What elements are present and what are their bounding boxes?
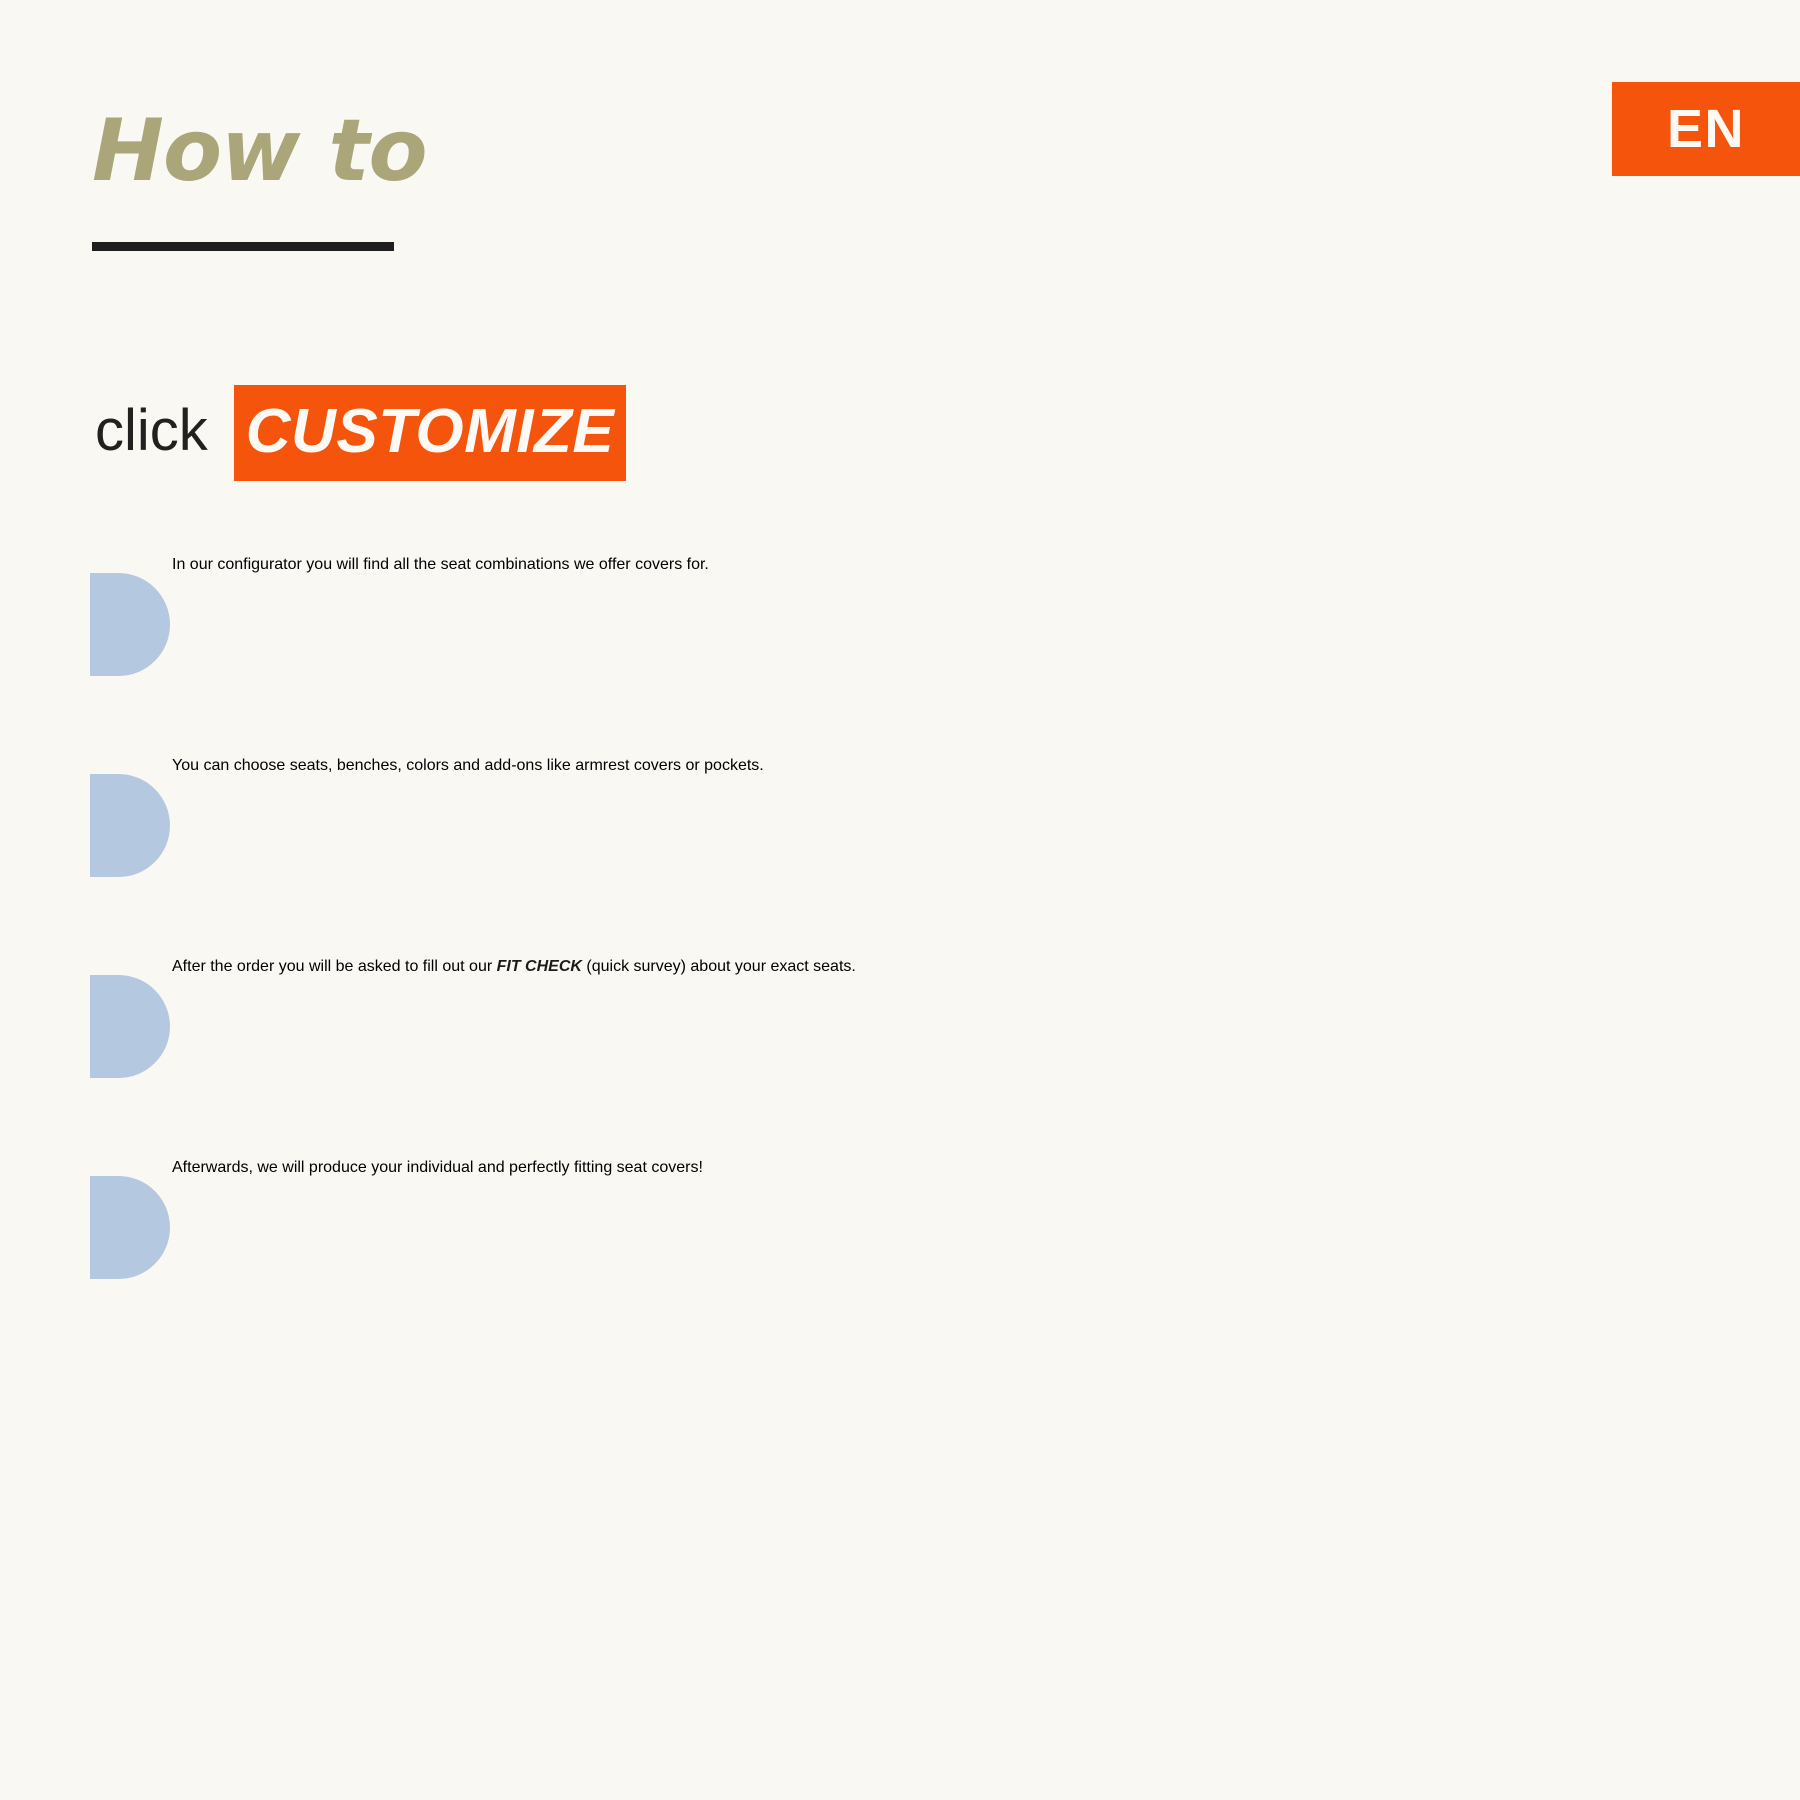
half-pill-bullet-icon [90,975,170,1078]
title-underline-rule [92,242,394,251]
language-badge-label: EN [1667,102,1745,156]
step-text-container: In our configurator you will find all th… [170,556,1670,574]
fit-check-emphasis: FIT CHECK [497,958,582,975]
step-text: You can choose seats, benches, colors an… [170,757,1670,775]
step-text: After the order you will be asked to fil… [170,958,1670,976]
customize-button-highlight[interactable]: CUSTOMIZE [234,385,626,481]
step-text-tail: (quick survey) about your exact seats. [582,958,856,975]
step-text-container: You can choose seats, benches, colors an… [170,757,1670,775]
step-text: In our configurator you will find all th… [170,556,1670,574]
half-pill-bullet-icon [90,1176,170,1279]
step-text: Afterwards, we will produce your individ… [170,1159,1670,1177]
list-item: You can choose seats, benches, colors an… [90,757,1670,877]
list-item: After the order you will be asked to fil… [90,958,1670,1078]
step-text-container: Afterwards, we will produce your individ… [170,1159,1670,1177]
list-item: In our configurator you will find all th… [90,556,1670,676]
how-to-card: EN How to click CUSTOMIZE In our configu… [0,0,1800,1800]
page-title: How to [92,108,427,194]
step-text-lead: After the order you will be asked to fil… [172,958,497,975]
title-block: How to [92,108,427,251]
cta-instruction: click CUSTOMIZE [95,385,626,481]
half-pill-bullet-icon [90,774,170,877]
list-item: Afterwards, we will produce your individ… [90,1159,1670,1279]
half-pill-bullet-icon [90,573,170,676]
step-text-container: After the order you will be asked to fil… [170,958,1670,976]
cta-prefix-label: click [95,402,208,464]
steps-list: In our configurator you will find all th… [90,556,1670,1279]
language-badge[interactable]: EN [1612,82,1800,176]
